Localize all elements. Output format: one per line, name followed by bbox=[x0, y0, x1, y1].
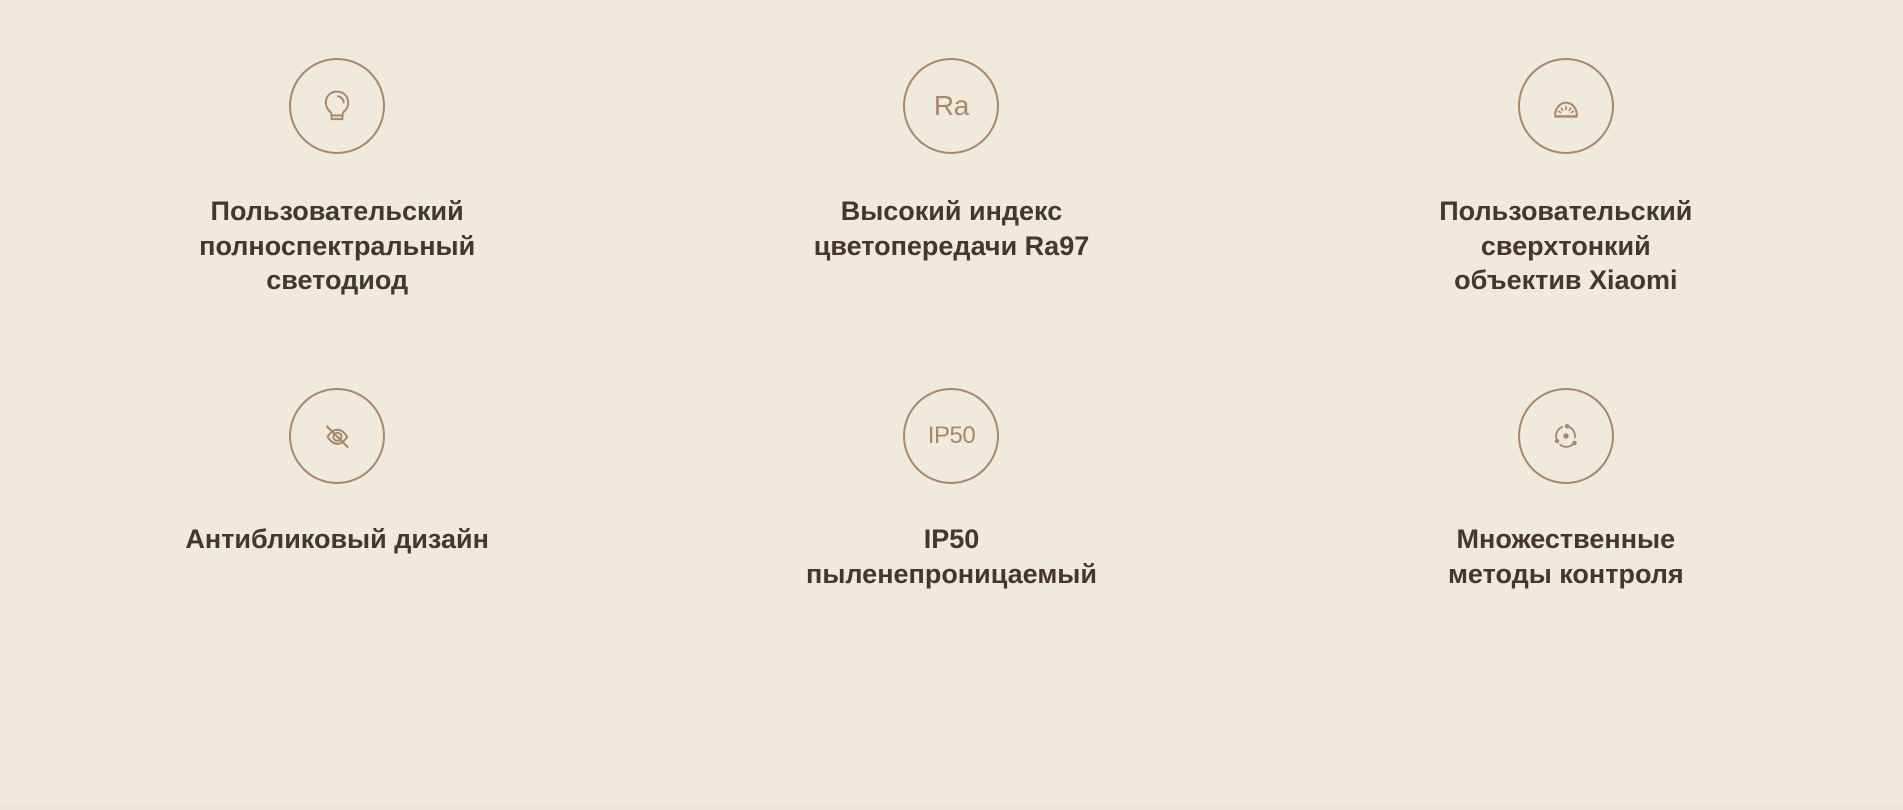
feature-title: Множественные методы контроля bbox=[1448, 522, 1684, 591]
feature-title: Антибликовый дизайн bbox=[185, 522, 489, 557]
feature-card-anti-glare-design: Антибликовый дизайн bbox=[30, 388, 644, 718]
feature-card-ip50-dustproof: IP50 IP50 пыленепроницаемый bbox=[644, 388, 1258, 718]
feature-card-ultra-thin-lens: Пользовательский сверхтонкий объектив Xi… bbox=[1259, 58, 1873, 388]
feature-card-color-rendering-ra97: Ra Высокий индекс цветопередачи Ra97 bbox=[644, 58, 1258, 388]
page-bottom-divider bbox=[0, 804, 1903, 810]
feature-title: IP50 пыленепроницаемый bbox=[806, 522, 1097, 591]
feature-highlights-section: Пользовательский полноспектральный свето… bbox=[0, 0, 1903, 810]
feature-title: Пользовательский полноспектральный свето… bbox=[199, 194, 475, 298]
feature-card-multiple-control-methods: Множественные методы контроля bbox=[1259, 388, 1873, 718]
feature-title: Высокий индекс цветопередачи Ra97 bbox=[814, 194, 1090, 263]
multi-control-icon bbox=[1518, 388, 1614, 484]
lens-dome-icon bbox=[1518, 58, 1614, 154]
ra-index-icon-label: Ra bbox=[934, 92, 969, 120]
eye-off-icon bbox=[289, 388, 385, 484]
feature-grid: Пользовательский полноспектральный свето… bbox=[30, 58, 1873, 718]
feature-card-full-spectrum-led: Пользовательский полноспектральный свето… bbox=[30, 58, 644, 388]
feature-title: Пользовательский сверхтонкий объектив Xi… bbox=[1439, 194, 1692, 298]
ip50-icon-label: IP50 bbox=[928, 424, 975, 448]
ra-index-icon: Ra bbox=[903, 58, 999, 154]
lightbulb-icon bbox=[289, 58, 385, 154]
ip50-icon: IP50 bbox=[903, 388, 999, 484]
